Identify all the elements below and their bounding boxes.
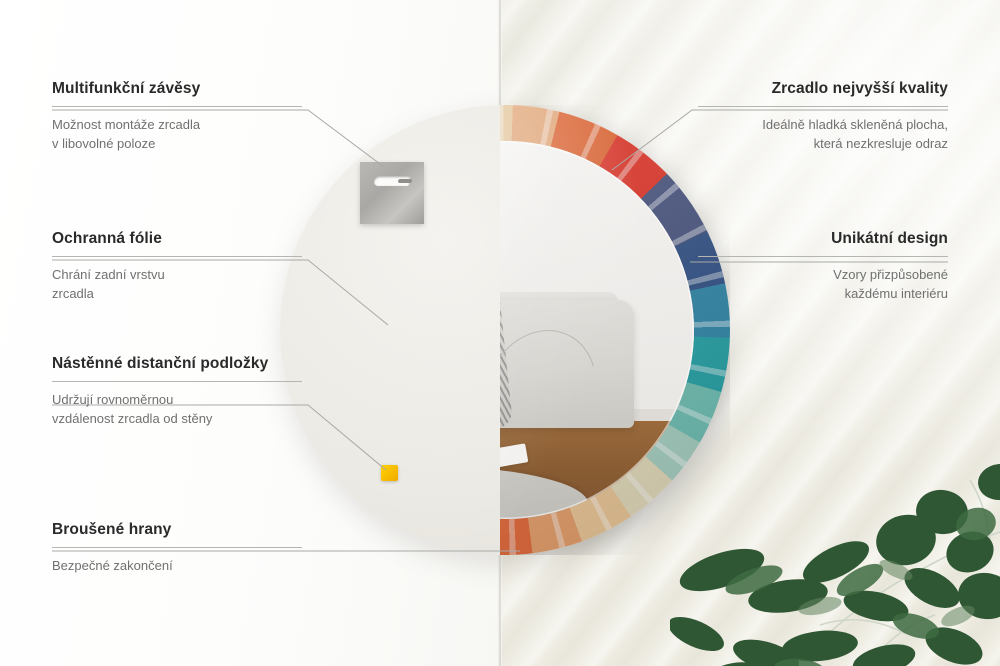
callout-title: Nástěnné distanční podložky xyxy=(52,355,302,374)
callout-multifunkcni-zavesy: Multifunkční závěsy Možnost montáže zrca… xyxy=(52,80,302,154)
callout-title: Broušené hrany xyxy=(52,521,302,540)
keyhole-slot-icon xyxy=(373,176,411,186)
callout-body: Chrání zadní vrstvuzrcadla xyxy=(52,266,302,304)
foliage-decoration xyxy=(670,420,1000,666)
callout-rule xyxy=(52,547,302,548)
hanging-plate-part xyxy=(360,162,424,224)
callout-title: Ochranná fólie xyxy=(52,230,302,249)
callout-body: Bezpečné zakončení xyxy=(52,557,302,576)
callout-brousene-hrany: Broušené hrany Bezpečné zakončení xyxy=(52,521,302,576)
callout-ochranna-folie: Ochranná fólie Chrání zadní vrstvuzrcadl… xyxy=(52,230,302,304)
callout-title: Unikátní design xyxy=(698,230,948,249)
callout-nastenne-distancni-podlozky: Nástěnné distanční podložky Udržují rovn… xyxy=(52,355,302,429)
callout-rule xyxy=(52,256,302,257)
infographic-canvas: Multifunkční závěsy Možnost montáže zrca… xyxy=(0,0,1000,666)
callout-body: Udržují rovnoměrnouvzdálenost zrcadla od… xyxy=(52,391,302,429)
callout-rule xyxy=(698,256,948,257)
callout-body: Ideálně hladká skleněná plocha,která nez… xyxy=(698,116,948,154)
callout-rule xyxy=(698,106,948,107)
callout-title: Zrcadlo nejvyšší kvality xyxy=(698,80,948,99)
callout-body: Vzory přizpůsobenékaždému interiéru xyxy=(698,266,948,304)
callout-unikatni-design: Unikátní design Vzory přizpůsobenékaždém… xyxy=(698,230,948,304)
spacer-pad-part xyxy=(381,465,398,481)
product-mirror xyxy=(280,105,730,555)
callout-zrcadlo-nejvyssi-kvality: Zrcadlo nejvyšší kvality Ideálně hladká … xyxy=(698,80,948,154)
callout-title: Multifunkční závěsy xyxy=(52,80,302,99)
callout-body: Možnost montáže zrcadlav libovolné poloz… xyxy=(52,116,302,154)
callout-rule xyxy=(52,381,302,382)
callout-rule xyxy=(52,106,302,107)
